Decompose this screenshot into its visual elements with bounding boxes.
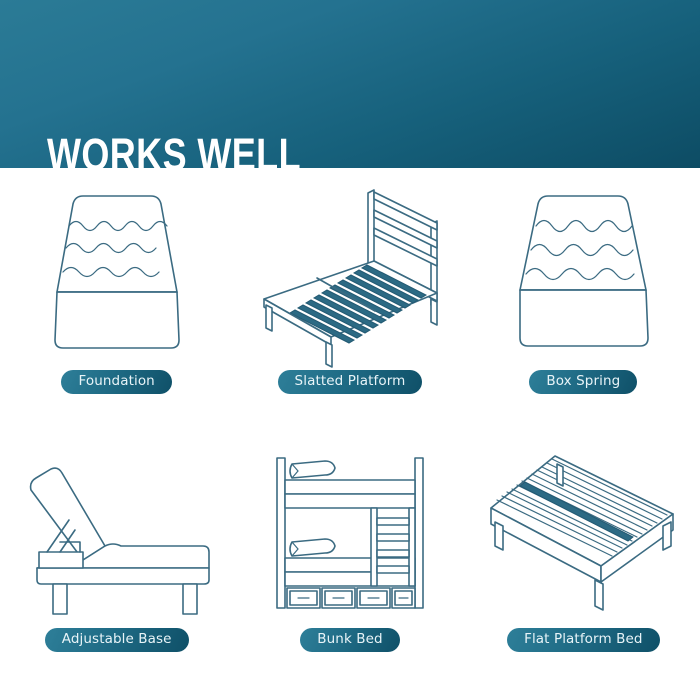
bunk-bed-icon <box>233 436 466 628</box>
slatted-platform-bed-icon <box>233 174 466 370</box>
base-label-bunk-bed: Bunk Bed <box>300 628 399 652</box>
base-card-adjustable-base[interactable]: Adjustable Base <box>0 434 233 700</box>
adjustable-base-icon <box>0 436 233 628</box>
bases-grid: Foundation <box>0 168 700 700</box>
base-card-bunk-bed[interactable]: Bunk Bed <box>233 434 466 700</box>
base-label-foundation: Foundation <box>61 370 171 394</box>
box-spring-icon <box>467 174 700 370</box>
mattress-foundation-icon <box>0 174 233 370</box>
header-banner: WORKS WELL WITH THESE BASES <box>0 0 700 168</box>
base-card-flat-platform-bed[interactable]: Flat Platform Bed <box>467 434 700 700</box>
base-card-slatted-platform[interactable]: Slatted Platform <box>233 168 466 434</box>
base-label-box-spring: Box Spring <box>529 370 637 394</box>
base-card-box-spring[interactable]: Box Spring <box>467 168 700 434</box>
flat-platform-bed-icon <box>467 436 700 628</box>
promo-graphic: WORKS WELL WITH THESE BASES <box>0 0 700 700</box>
base-label-adjustable-base: Adjustable Base <box>45 628 189 652</box>
base-label-slatted-platform: Slatted Platform <box>278 370 423 394</box>
page-title-line-1: WORKS WELL <box>47 130 409 168</box>
page-title: WORKS WELL WITH THESE BASES <box>47 30 409 168</box>
base-label-flat-platform-bed: Flat Platform Bed <box>507 628 659 652</box>
base-card-foundation[interactable]: Foundation <box>0 168 233 434</box>
